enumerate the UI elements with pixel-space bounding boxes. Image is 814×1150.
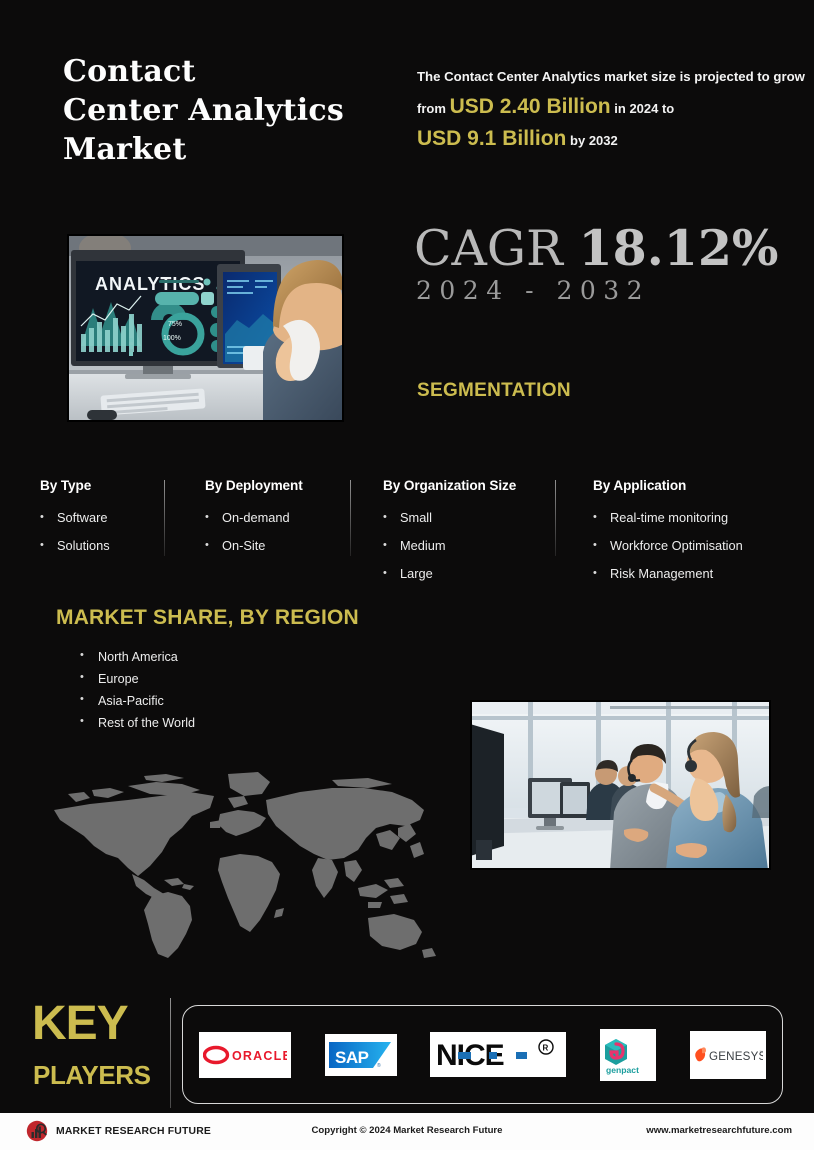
svg-text:®: ® [377,1062,381,1069]
column-divider [350,480,351,556]
region-item: Europe [80,668,195,690]
segment-item: On-demand [205,504,303,532]
page-title-line-3: Market [63,130,403,169]
cagr-display: CAGR 18.12% [414,219,779,277]
segment-title: By Organization Size [383,478,516,493]
column-divider [164,480,165,556]
segment-title: By Application [593,478,743,493]
segment-item: Software [40,504,110,532]
infographic-poster: Contact Center Analytics Market The Cont… [0,0,814,1150]
headline-block: The Contact Center Analytics market size… [417,62,797,156]
segment-column-by-type: By Type Software Solutions [40,478,110,560]
segment-item-list: On-demand On-Site [205,504,303,560]
segment-item: Real-time monitoring [593,504,743,532]
svg-text:75%: 75% [168,321,182,328]
page-title-line-2: Center Analytics [63,91,403,130]
svg-text:™: ™ [759,1050,763,1055]
cagr-year-range: 2024 - 2032 [416,276,650,305]
footer-website-url[interactable]: www.marketresearchfuture.com [646,1125,792,1136]
svg-text:100%: 100% [163,335,181,342]
segment-item-list: Software Solutions [40,504,110,560]
nice-logo: NICE R [430,1032,566,1077]
segment-title: By Type [40,478,110,493]
cagr-value: 18.12% [579,219,779,277]
page-title: Contact Center Analytics Market [63,52,403,169]
segmentation-heading: SEGMENTATION [417,380,571,402]
segmentation-columns: By Type Software Solutions By Deployment… [40,478,780,588]
world-map [32,762,452,967]
segment-item: Medium [383,532,516,560]
region-item: North America [80,646,195,668]
segment-item: On-Site [205,532,303,560]
svg-text:R: R [543,1043,549,1052]
headline-line-3: USD 9.1 Billion by 2032 [417,124,797,156]
headline-line-1: The Contact Center Analytics market size… [417,62,797,92]
segment-item: Large [383,560,516,588]
genpact-logo: genpact [600,1029,656,1081]
page-title-line-1: Contact [63,52,403,91]
headline-from-label: from [417,101,446,116]
svg-text:ORACLE: ORACLE [232,1049,287,1063]
svg-text:genpact: genpact [606,1065,639,1075]
region-item: Rest of the World [80,712,195,734]
region-list: North America Europe Asia-Pacific Rest o… [80,646,195,734]
market-share-heading: MARKET SHARE, BY REGION [56,606,359,630]
segment-item: Solutions [40,532,110,560]
market-size-2032-value: USD 9.1 Billion [417,127,566,150]
headline-by-2032-label: by 2032 [570,133,618,148]
segment-item: Workforce Optimisation [593,532,743,560]
key-players-label-bottom: PLAYERS [33,1062,151,1088]
key-players-divider [170,998,171,1108]
segment-item: Risk Management [593,560,743,588]
region-item: Asia-Pacific [80,690,195,712]
segment-column-by-deployment: By Deployment On-demand On-Site [205,478,303,560]
market-size-2024-value: USD 2.40 Billion [450,95,611,118]
segment-item-list: Small Medium Large [383,504,516,588]
genesys-logo: GENESYS ™ [690,1031,766,1079]
key-players-logo-row: ORACLE SAP ® NICE R [182,1005,783,1104]
analytics-dashboard-photo: ANALYTICS 75% 100% [67,234,344,422]
oracle-logo: ORACLE [199,1032,291,1078]
segment-column-by-application: By Application Real-time monitoring Work… [593,478,743,588]
column-divider [555,480,556,556]
segment-title: By Deployment [205,478,303,493]
key-players-label-top: KEY [32,1000,128,1048]
headline-line-2: from USD 2.40 Billion in 2024 to [417,92,797,124]
sap-logo: SAP ® [325,1034,397,1076]
segment-column-by-organization-size: By Organization Size Small Medium Large [383,478,516,588]
call-center-photo [470,700,771,870]
headline-in-2024-label: in 2024 to [614,101,674,116]
svg-text:GENESYS: GENESYS [709,1050,763,1063]
svg-text:ANALYTICS: ANALYTICS [95,274,205,294]
cagr-label: CAGR [414,220,563,277]
segment-item: Small [383,504,516,532]
segment-item-list: Real-time monitoring Workforce Optimisat… [593,504,743,588]
svg-text:SAP: SAP [335,1048,369,1067]
